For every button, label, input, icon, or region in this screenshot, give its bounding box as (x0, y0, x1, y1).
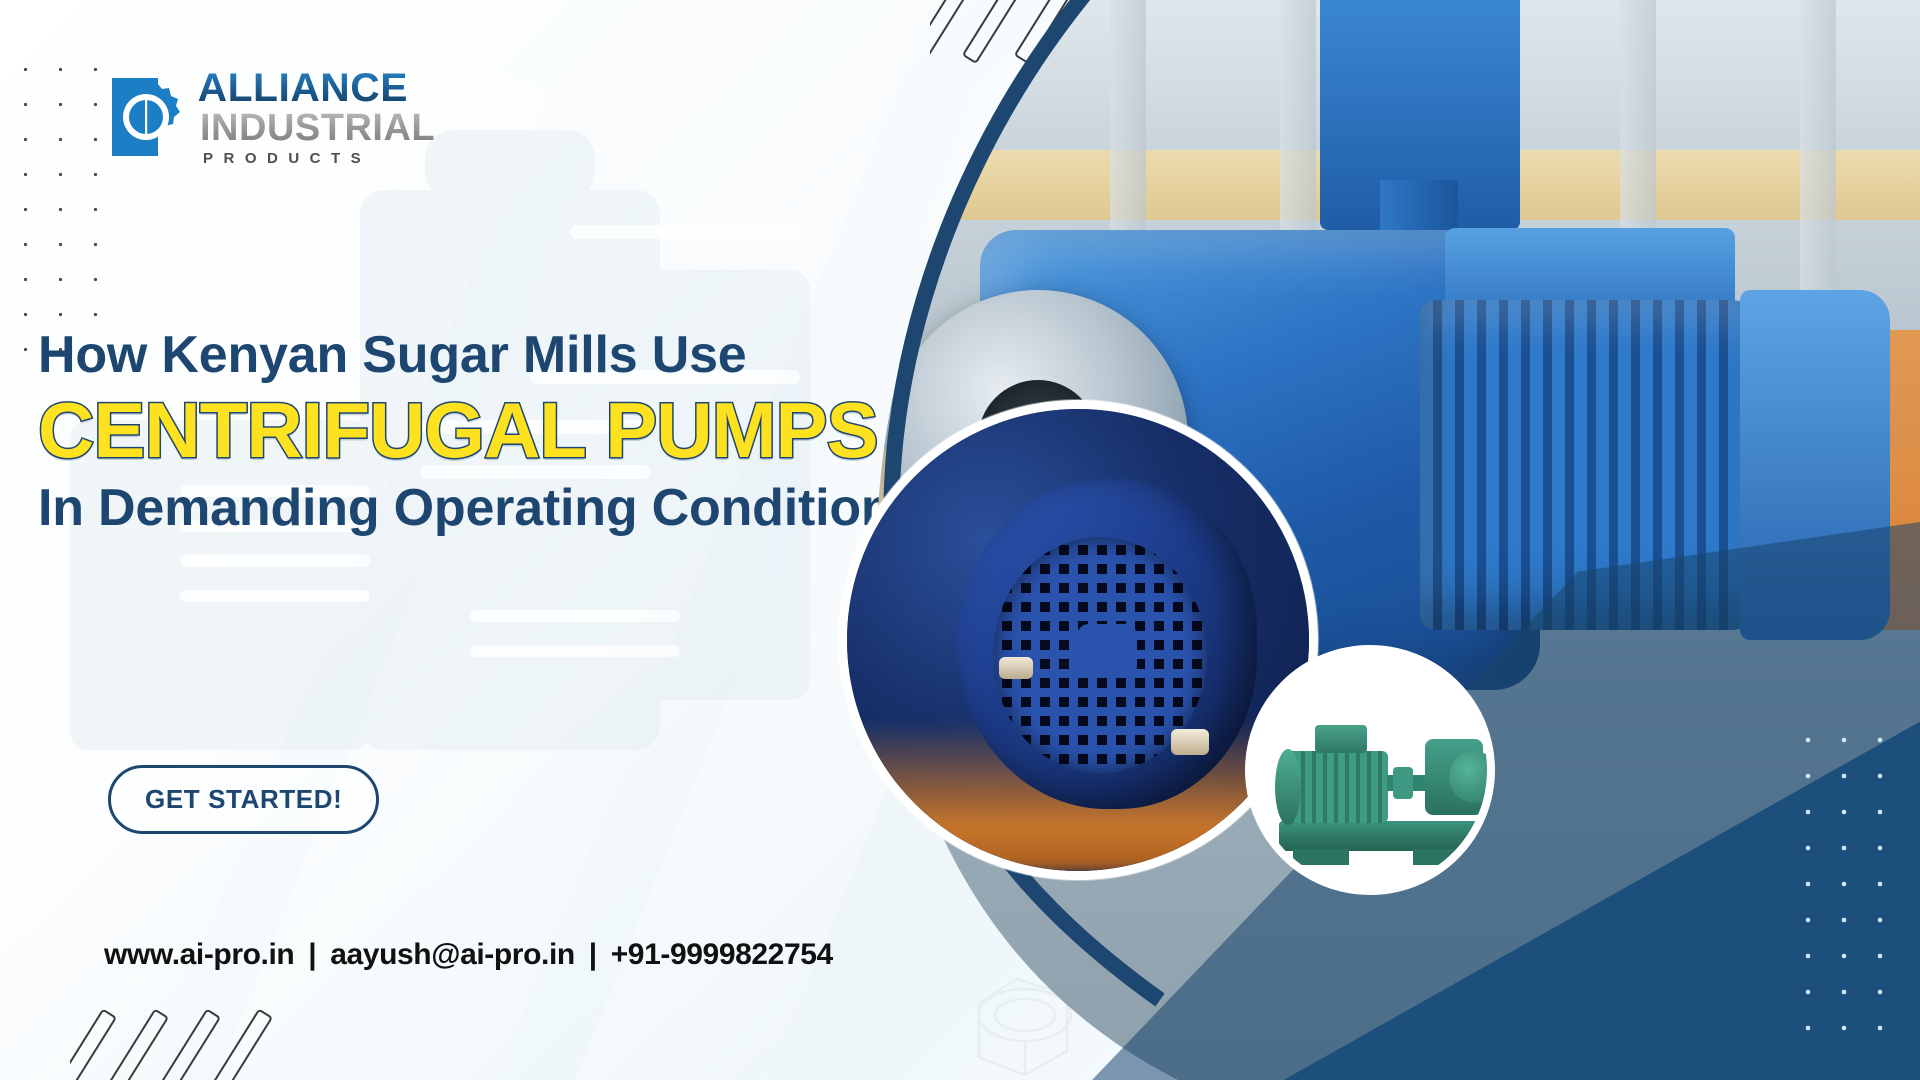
phone-number[interactable]: +91-9999822754 (611, 938, 833, 971)
diagonal-bars-icon (70, 1002, 320, 1080)
promo-banner: ALLIANCE INDUSTRIAL PRODUCTS How Kenyan … (0, 0, 1920, 1080)
website-link[interactable]: www.ai-pro.in (104, 938, 294, 971)
gear-logo-icon (110, 74, 182, 160)
navy-accent-shape (1020, 460, 1920, 1080)
hero-navy-curve (860, 0, 1920, 1080)
email-link[interactable]: aayush@ai-pro.in (330, 938, 575, 971)
hero-photo (860, 0, 1920, 1080)
headline-line-3: In Demanding Operating Conditions (38, 481, 1158, 536)
headline-line-2-highlight: CENTRIFUGAL PUMPS (38, 389, 1158, 472)
contact-separator: | (583, 938, 603, 971)
dot-grid-icon (1790, 722, 1910, 1052)
inset-photo-gear-pump (1245, 645, 1495, 895)
brand-name-line1: ALLIANCE (198, 68, 438, 108)
headline-block: How Kenyan Sugar Mills Use CENTRIFUGAL P… (38, 328, 1158, 536)
headline-line-1: How Kenyan Sugar Mills Use (38, 328, 1158, 383)
contact-separator: | (302, 938, 322, 971)
get-started-button[interactable]: GET STARTED! (108, 765, 379, 834)
diagonal-bars-icon (930, 0, 1180, 84)
brand-logo[interactable]: ALLIANCE INDUSTRIAL PRODUCTS (110, 68, 435, 166)
contact-bar: www.ai-pro.in | aayush@ai-pro.in | +91-9… (104, 938, 833, 972)
media-composition (860, 0, 1920, 1080)
brand-name-line3: PRODUCTS (200, 151, 435, 166)
background-sheen (468, 0, 1272, 1080)
brand-name-line2: INDUSTRIAL (200, 109, 435, 147)
brand-wordmark: ALLIANCE INDUSTRIAL PRODUCTS (200, 68, 435, 166)
bolt-and-nut-icon (975, 855, 1235, 1080)
navy-accent-shape (1060, 520, 1920, 1080)
